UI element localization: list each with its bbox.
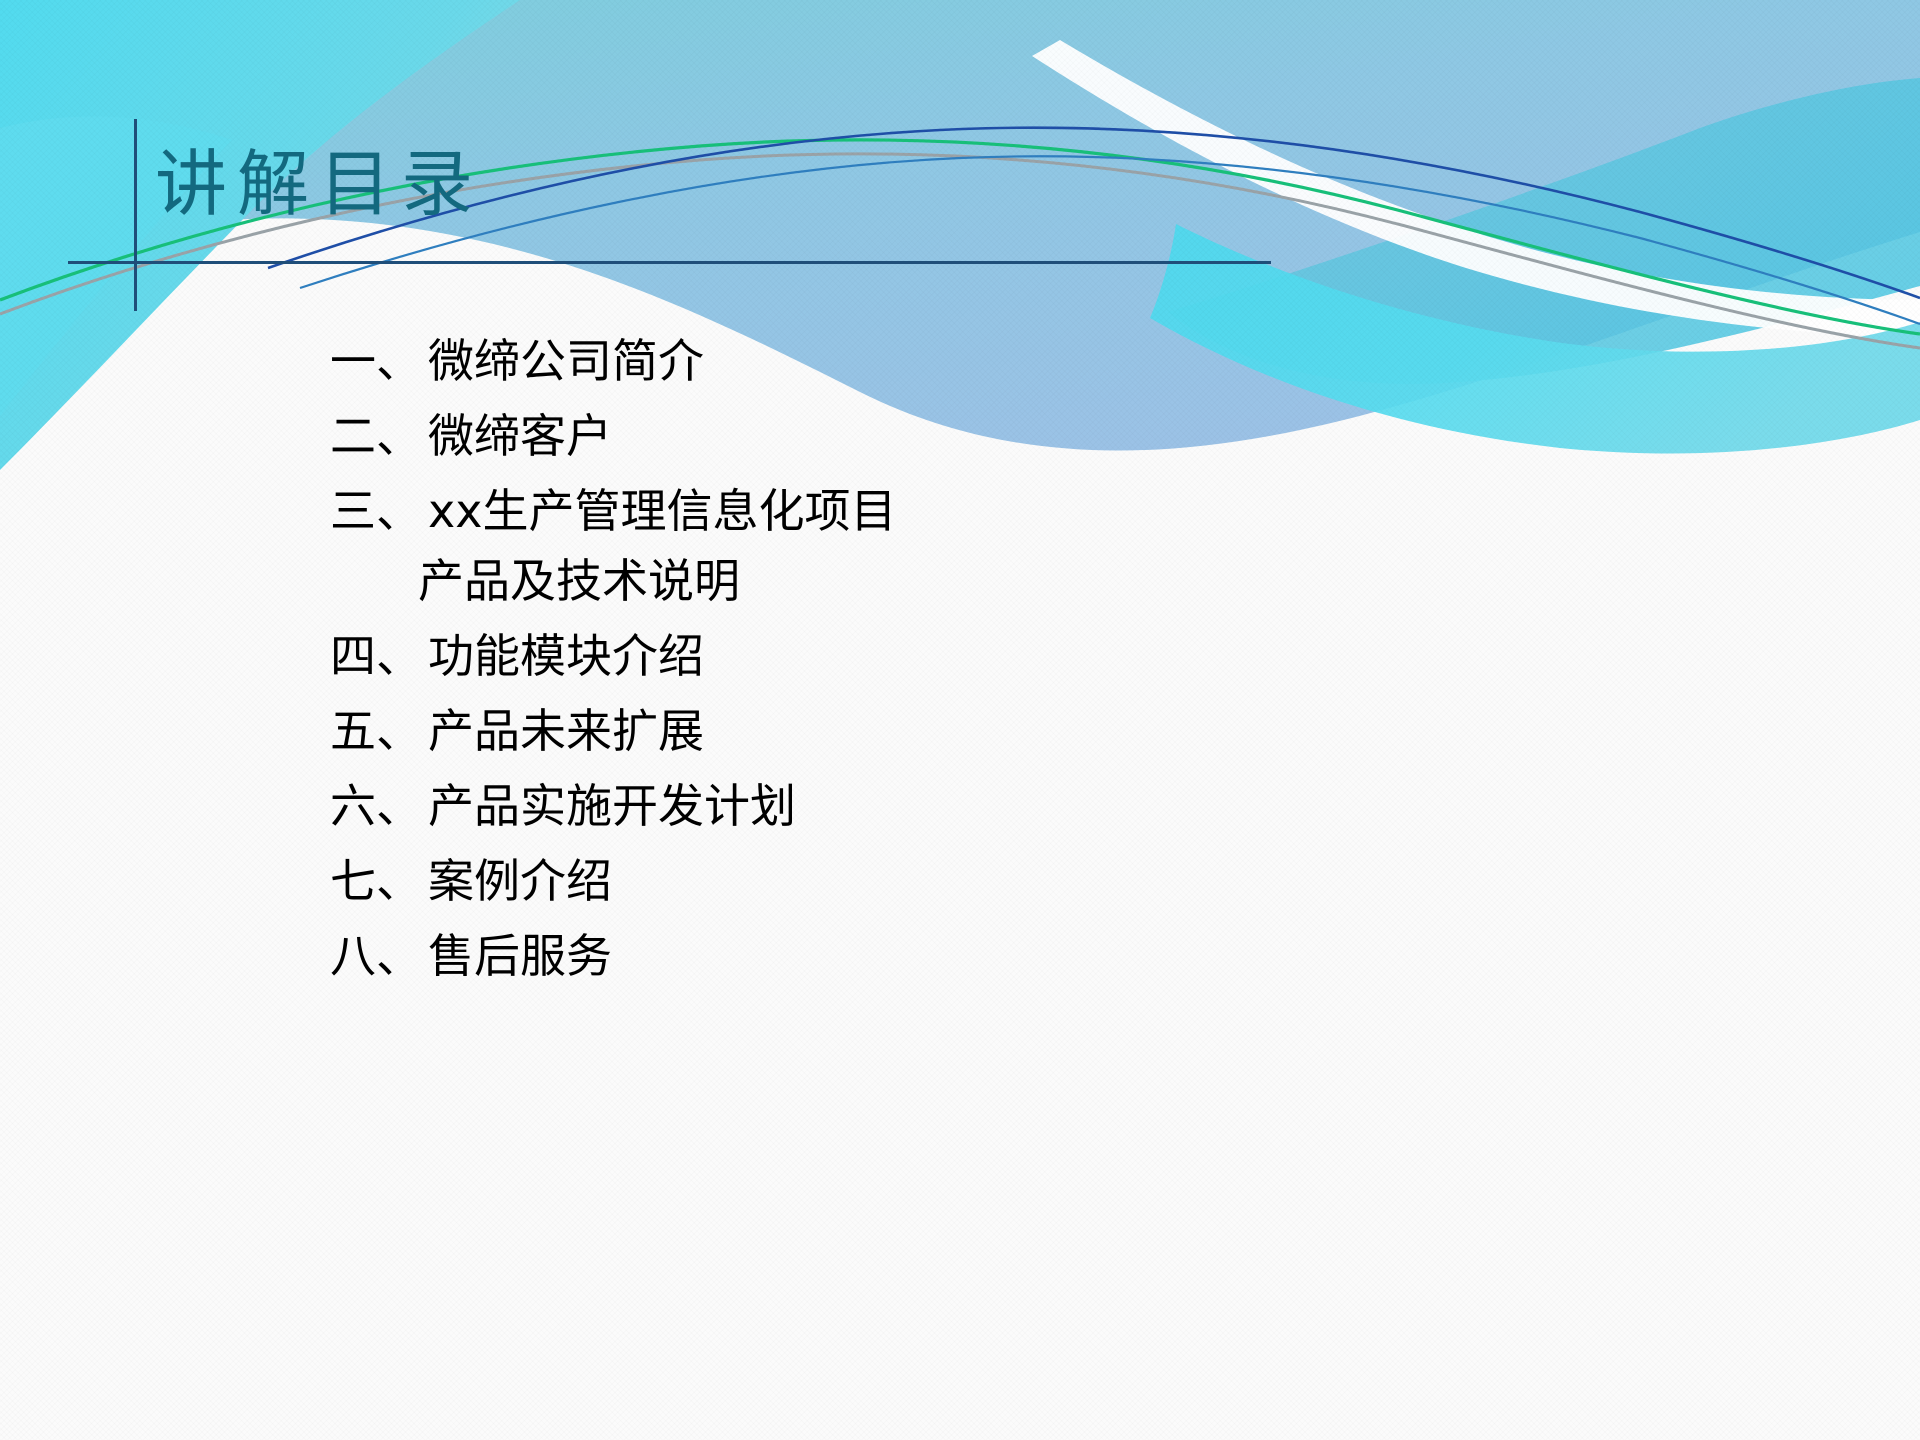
- toc-item-5[interactable]: 五、产品未来扩展: [330, 708, 1530, 754]
- toc-item-7[interactable]: 七、案例介绍: [330, 858, 1530, 904]
- toc-item-label: 功能模块介绍: [428, 629, 704, 683]
- toc-item-index: 五、: [330, 708, 428, 754]
- toc-item-label: 售后服务: [428, 929, 612, 983]
- toc-item-2[interactable]: 二、微缔客户: [330, 413, 1530, 459]
- toc-item-3-subline: 产品及技术说明: [330, 558, 1530, 604]
- toc-item-4[interactable]: 四、功能模块介绍: [330, 633, 1530, 679]
- table-of-contents-list: 一、微缔公司简介 二、微缔客户 三、xx生产管理信息化项目 产品及技术说明 四、…: [330, 338, 1530, 1008]
- toc-item-label: 微缔客户: [428, 409, 612, 463]
- toc-item-index: 四、: [330, 633, 428, 679]
- toc-item-1[interactable]: 一、微缔公司简介: [330, 338, 1530, 384]
- toc-item-index: 一、: [330, 338, 428, 384]
- page-title: 讲解目录: [155, 148, 483, 220]
- toc-item-6[interactable]: 六、产品实施开发计划: [330, 783, 1530, 829]
- presentation-slide: 讲解目录 一、微缔公司简介 二、微缔客户 三、xx生产管理信息化项目 产品及技术…: [0, 0, 1920, 1440]
- toc-item-index: 六、: [330, 783, 428, 829]
- toc-item-label: 产品实施开发计划: [428, 779, 796, 833]
- toc-item-label: xx生产管理信息化项目: [428, 484, 896, 538]
- toc-item-index: 三、: [330, 488, 428, 534]
- toc-item-label: 案例介绍: [428, 854, 612, 908]
- toc-item-index: 七、: [330, 858, 428, 904]
- title-vertical-rule: [134, 119, 137, 311]
- toc-item-8[interactable]: 八、售后服务: [330, 933, 1530, 979]
- title-horizontal-rule: [68, 261, 1271, 264]
- toc-item-3[interactable]: 三、xx生产管理信息化项目: [330, 488, 1530, 534]
- toc-item-index: 二、: [330, 413, 428, 459]
- toc-item-label: 产品未来扩展: [428, 704, 704, 758]
- toc-item-index: 八、: [330, 933, 428, 979]
- toc-item-label: 微缔公司简介: [428, 334, 704, 388]
